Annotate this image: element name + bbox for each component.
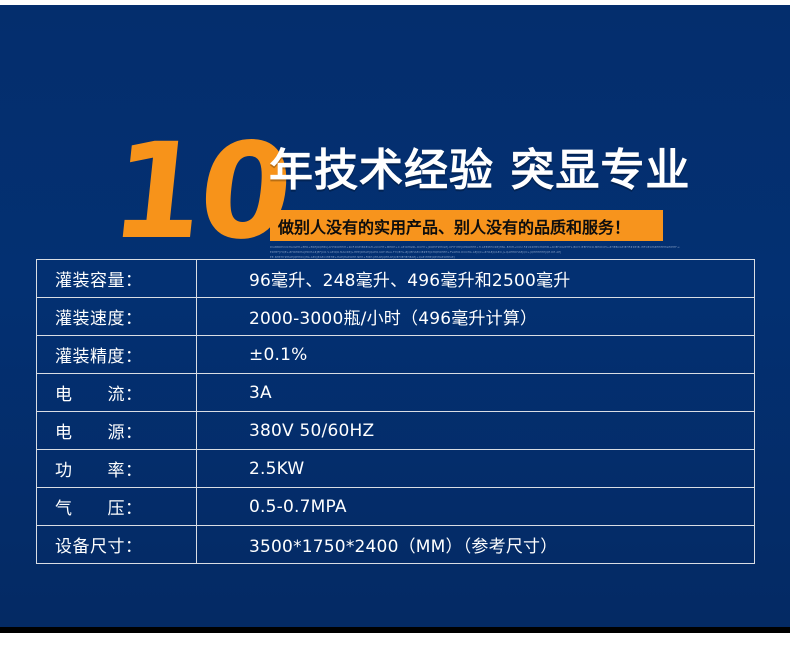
spec-value: 0.5-0.7MPA xyxy=(197,488,755,526)
spec-label: 灌装容量： xyxy=(37,260,197,298)
hero-banner: 10 年技术经验 突显专业 做别人没有的实用产品、别人没有的品质和服务！ DIA… xyxy=(0,60,790,225)
spec-value: 380V 50/60HZ xyxy=(197,412,755,450)
years-number: 10 xyxy=(105,126,295,258)
spec-value: 3500*1750*2400（MM）（参考尺寸） xyxy=(197,526,755,564)
spec-label: 设备尺寸： xyxy=(37,526,197,564)
spec-value: 2000-3000瓶/小时（496毫升计算） xyxy=(197,298,755,336)
table-row: 灌装速度： 2000-3000瓶/小时（496毫升计算） xyxy=(37,298,755,336)
table-row: 灌装精度： ±0.1% xyxy=(37,336,755,374)
spec-label: 电 流： xyxy=(37,374,197,412)
table-row: 功 率： 2.5KW xyxy=(37,450,755,488)
spec-label: 灌装速度： xyxy=(37,298,197,336)
product-spec-banner: 10 年技术经验 突显专业 做别人没有的实用产品、别人没有的品质和服务！ DIA… xyxy=(0,0,790,645)
spec-label: 功 率： xyxy=(37,450,197,488)
table-row: 气 压： 0.5-0.7MPA xyxy=(37,488,755,526)
bottom-white-strip xyxy=(0,633,790,645)
hero-subbar-text: 做别人没有的实用产品、别人没有的品质和服务！ xyxy=(270,214,630,238)
spec-label: 电 源： xyxy=(37,412,197,450)
spec-value: 3A xyxy=(197,374,755,412)
spec-label: 灌装精度： xyxy=(37,336,197,374)
specification-table-body: 灌装容量： 96毫升、248毫升、496毫升和2500毫升 灌装速度： 2000… xyxy=(37,260,755,564)
table-row: 电 源： 380V 50/60HZ xyxy=(37,412,755,450)
hero-heading: 年技术经验 突显专业 xyxy=(269,146,690,196)
decorative-microtext: DIABBDEXXCHAIGEH+EER+EREJRQEBU|AHHDOHEIH… xyxy=(270,245,680,260)
table-row: 设备尺寸： 3500*1750*2400（MM）（参考尺寸） xyxy=(37,526,755,564)
table-row: 灌装容量： 96毫升、248毫升、496毫升和2500毫升 xyxy=(37,260,755,298)
spec-value: 2.5KW xyxy=(197,450,755,488)
spec-label: 气 压： xyxy=(37,488,197,526)
table-row: 电 流： 3A xyxy=(37,374,755,412)
spec-value: ±0.1% xyxy=(197,336,755,374)
spec-value: 96毫升、248毫升、496毫升和2500毫升 xyxy=(197,260,755,298)
hero-subbar: 做别人没有的实用产品、别人没有的品质和服务！ xyxy=(270,210,663,241)
specification-table: 灌装容量： 96毫升、248毫升、496毫升和2500毫升 灌装速度： 2000… xyxy=(36,259,755,564)
